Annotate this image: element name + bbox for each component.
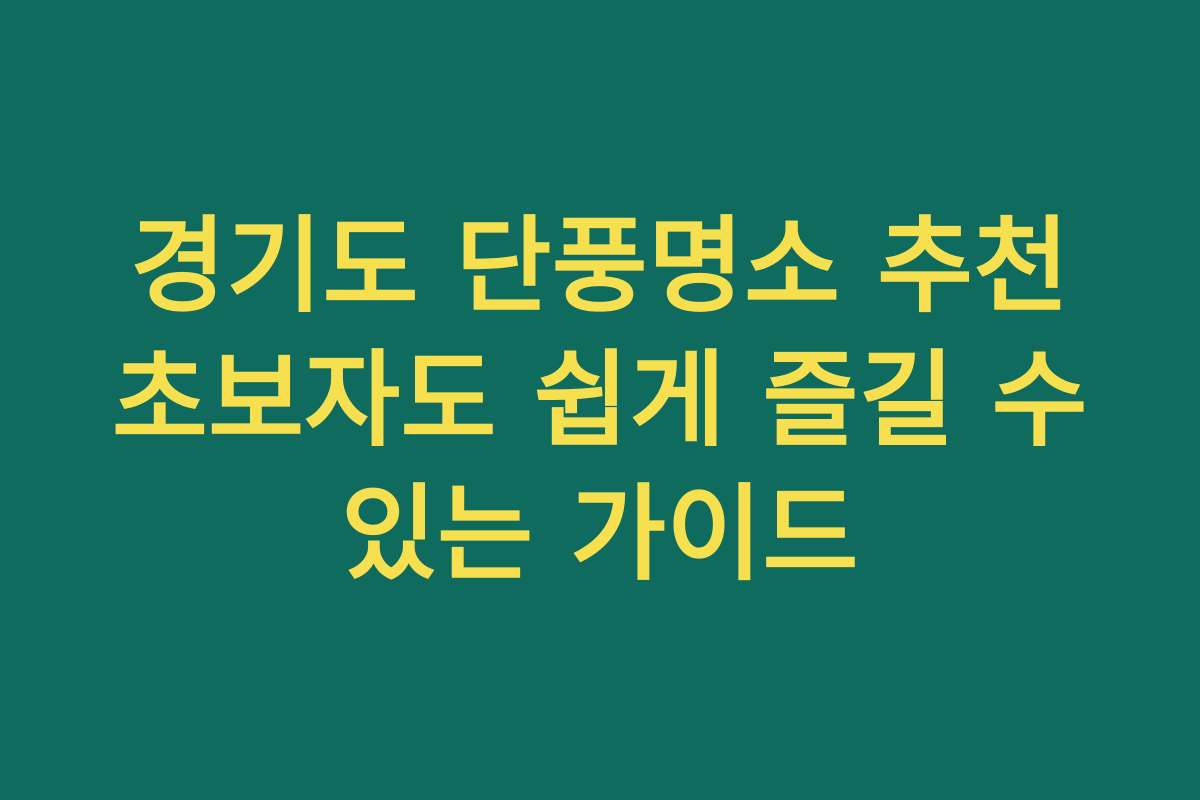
headline-text: 경기도 단풍명소 추천 초보자도 쉽게 즐길 수 있는 가이드 [80,199,1120,601]
headline-block: 경기도 단풍명소 추천 초보자도 쉽게 즐길 수 있는 가이드 [80,199,1120,601]
thumbnail-canvas: 경기도 단풍명소 추천 초보자도 쉽게 즐길 수 있는 가이드 [0,0,1200,800]
